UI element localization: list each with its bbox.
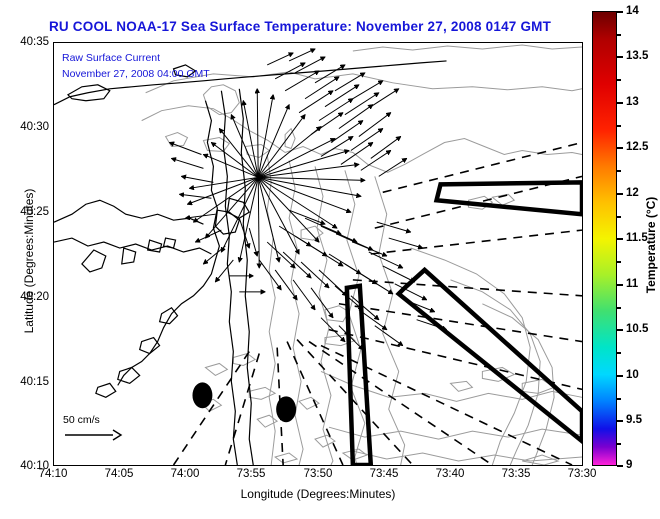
map-canvas xyxy=(54,43,582,465)
cb-tick xyxy=(617,375,623,377)
cb-minor-tick xyxy=(617,170,621,172)
y-axis-label: Latitude (Degrees:Minutes) xyxy=(22,146,36,376)
cb-label: 10 xyxy=(626,369,639,381)
vector-scale-label: 50 cm/s xyxy=(63,414,123,426)
cb-tick xyxy=(617,238,623,240)
colorbar[interactable] xyxy=(592,11,617,466)
transect-boxes xyxy=(347,182,582,465)
cb-label: 13.5 xyxy=(626,50,648,62)
y-tick-text: 40:30 xyxy=(20,121,49,133)
cb-minor-tick xyxy=(617,352,621,354)
x-tick: 73:40 xyxy=(436,468,465,480)
y-tick: 40:10 xyxy=(49,460,78,472)
y-tick-text: 40:10 xyxy=(20,460,49,472)
cb-tick xyxy=(617,465,623,467)
y-tick-text: 40:35 xyxy=(20,36,49,48)
coastline xyxy=(54,61,447,465)
cb-tick xyxy=(617,420,623,422)
colorbar-gradient xyxy=(593,12,616,465)
cb-tick xyxy=(617,193,623,195)
y-tick: 40:25 xyxy=(49,206,78,218)
cb-label: 9.5 xyxy=(626,414,642,426)
cb-minor-tick xyxy=(617,443,621,445)
y-tick: 40:20 xyxy=(49,291,78,303)
cb-minor-tick xyxy=(617,79,621,81)
cb-minor-tick xyxy=(617,398,621,400)
cb-minor-tick xyxy=(617,34,621,36)
map-plot-area[interactable]: Raw Surface Current November 27, 2008 04… xyxy=(53,42,583,466)
vector-scale-legend: 50 cm/s xyxy=(63,414,123,442)
x-tick: 74:05 xyxy=(105,468,134,480)
overlay-line-1: Raw Surface Current xyxy=(62,52,160,64)
cb-tick xyxy=(617,147,623,149)
right-arrow-icon xyxy=(63,428,123,442)
x-tick: 74:00 xyxy=(171,468,200,480)
cb-minor-tick xyxy=(617,216,621,218)
cb-minor-tick xyxy=(617,307,621,309)
x-tick: 73:55 xyxy=(237,468,266,480)
cb-tick xyxy=(617,11,623,13)
x-tick: 73:35 xyxy=(502,468,531,480)
y-tick-text: 40:15 xyxy=(20,376,49,388)
y-tick: 40:35 xyxy=(49,36,78,48)
cb-label: 12 xyxy=(626,187,639,199)
colorbar-title: Temperature (°C) xyxy=(644,145,658,345)
x-tick: 73:45 xyxy=(370,468,399,480)
y-tick: 40:30 xyxy=(49,121,78,133)
cb-minor-tick xyxy=(617,125,621,127)
cb-label: 9 xyxy=(626,459,632,471)
cb-label: 11 xyxy=(626,278,638,290)
cb-tick xyxy=(617,102,623,104)
cb-minor-tick xyxy=(617,261,621,263)
sst-map-figure: RU COOL NOAA-17 Sea Surface Temperature:… xyxy=(0,0,660,519)
cb-label: 14 xyxy=(626,5,639,17)
x-axis-label: Longitude (Degrees:Minutes) xyxy=(53,487,583,501)
current-vector-field xyxy=(170,49,447,350)
figure-title: RU COOL NOAA-17 Sea Surface Temperature:… xyxy=(0,19,600,34)
cb-tick xyxy=(617,329,623,331)
cb-label: 13 xyxy=(626,96,639,108)
x-tick: 73:30 xyxy=(568,468,597,480)
y-tick: 40:15 xyxy=(49,376,78,388)
x-tick: 73:50 xyxy=(304,468,333,480)
cb-tick xyxy=(617,56,623,58)
overlay-line-2: November 27, 2008 04:00 GMT xyxy=(62,68,210,80)
cb-tick xyxy=(617,284,623,286)
